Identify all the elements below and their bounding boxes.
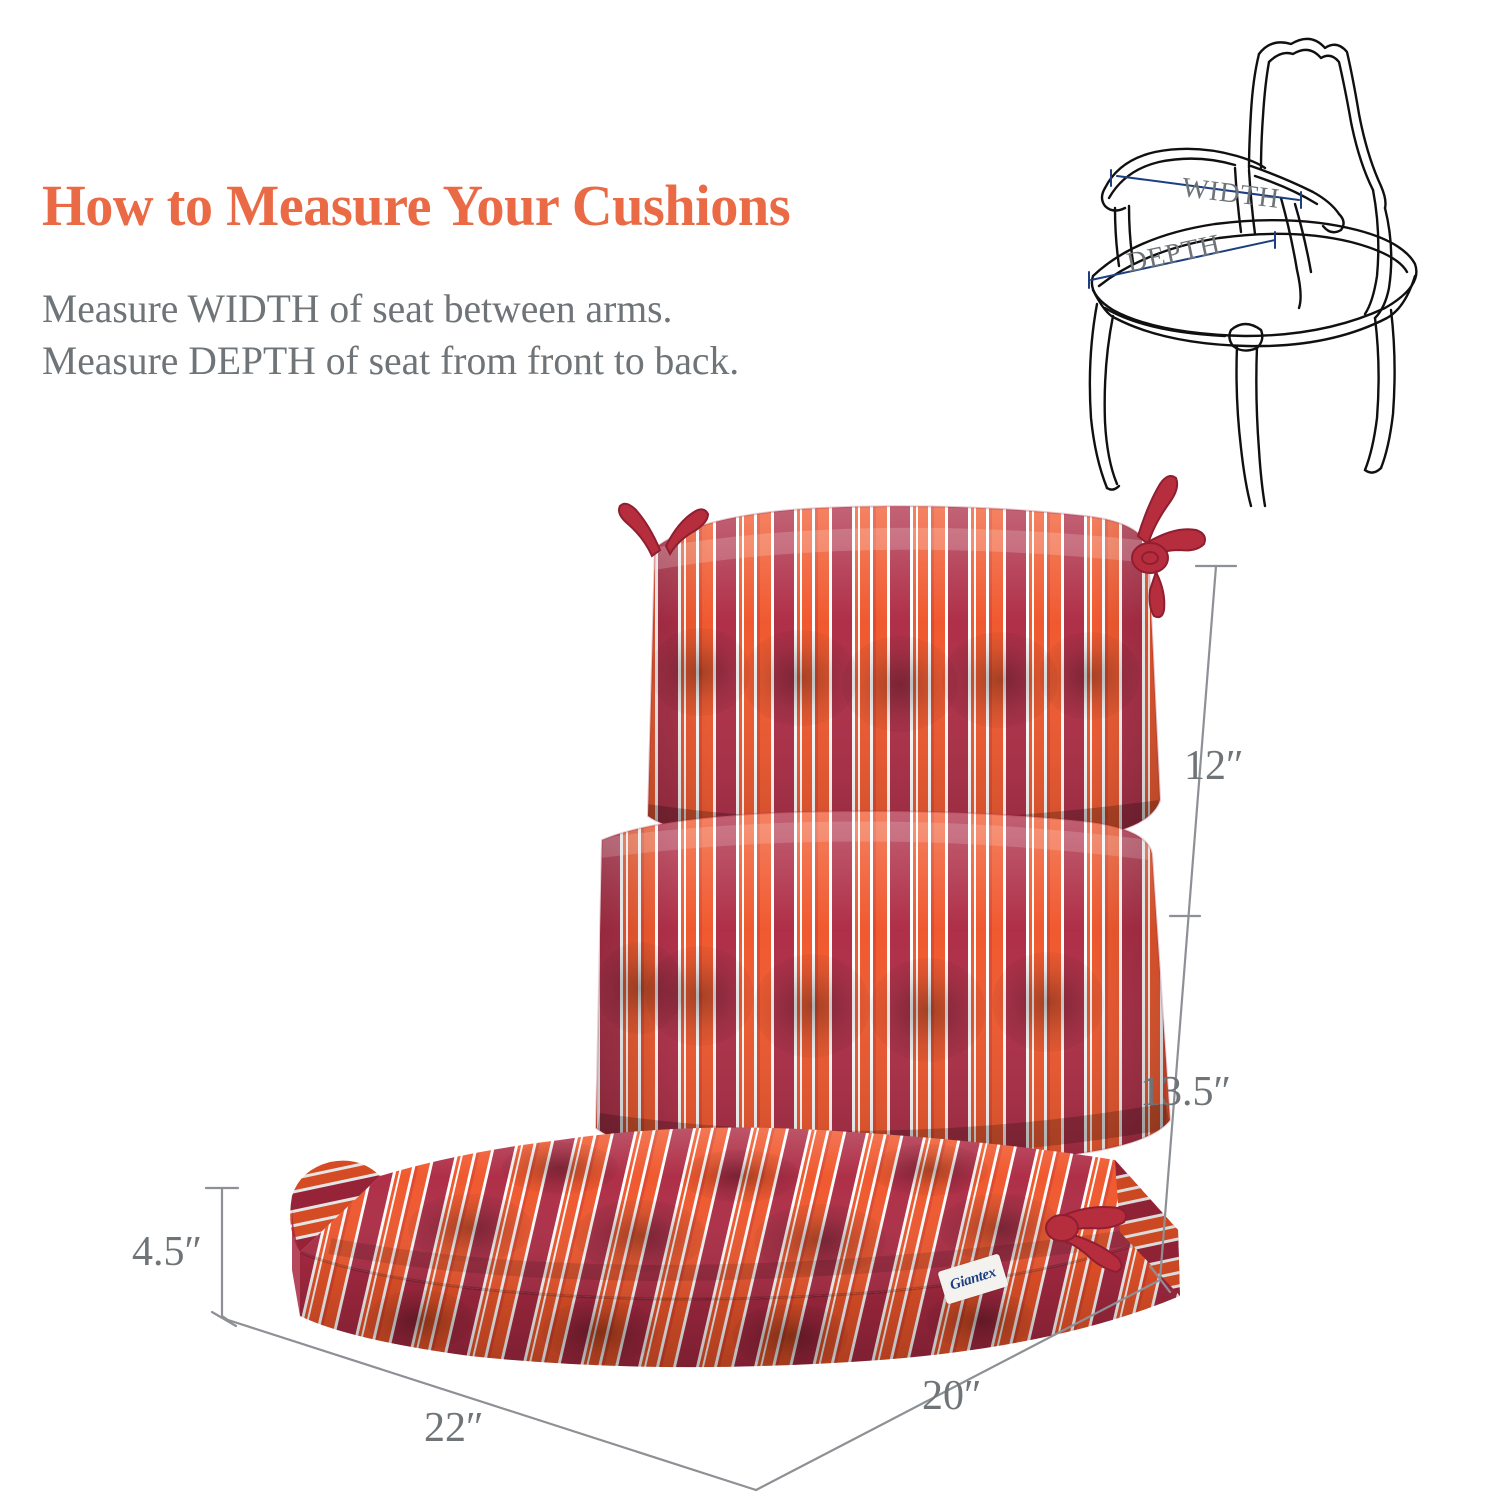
chair-width-label: WIDTH [1180,172,1281,215]
dimension-label-seat-width: 22″ [424,1404,484,1452]
cushion-product-illustration [0,440,1500,1500]
instruction-line-depth: Measure DEPTH of seat from front to back… [42,335,739,387]
instruction-line-width: Measure WIDTH of seat between arms. [42,283,739,335]
chair-measurement-diagram: WIDTH DEPTH [1085,18,1495,508]
instructions-block: Measure WIDTH of seat between arms. Meas… [42,283,739,387]
dimension-label-seat-thickness: 4.5″ [132,1228,202,1276]
dimension-label-seat-depth: 20″ [922,1372,982,1420]
dimension-label-upper-back: 12″ [1184,742,1244,790]
dimension-label-lower-back: 13.5″ [1140,1068,1231,1116]
chair-depth-label: DEPTH [1124,229,1224,279]
page-title: How to Measure Your Cushions [42,172,790,239]
